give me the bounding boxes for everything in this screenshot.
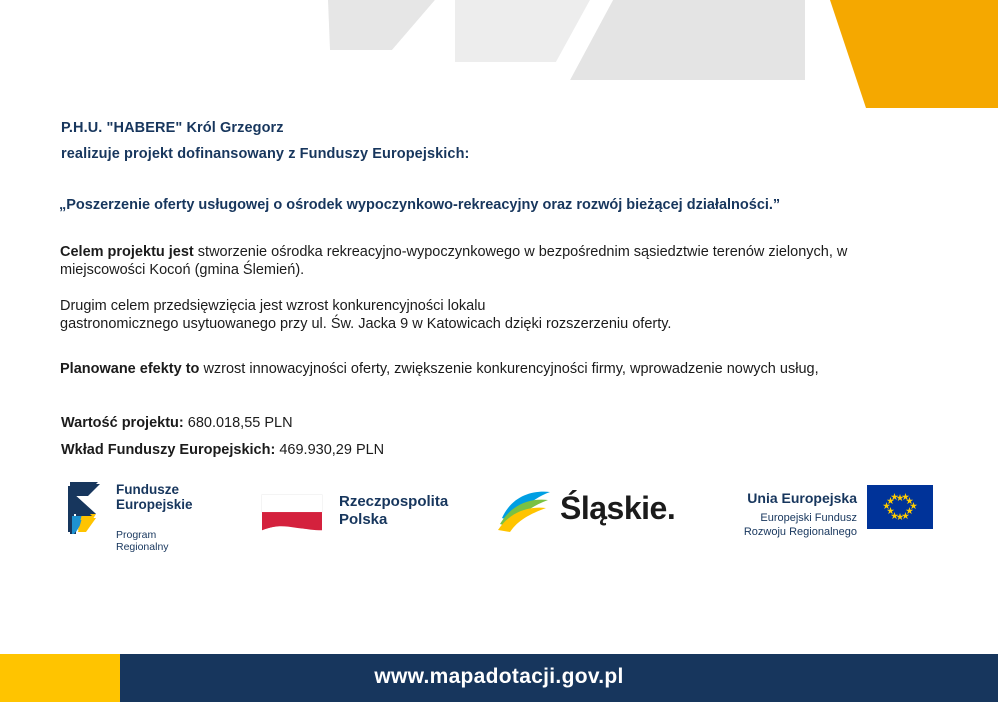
unia-sub-line1: Europejski Fundusz xyxy=(760,512,857,524)
project-second-goal-line1: Drugim celem przedsięwzięcia jest wzrost… xyxy=(60,298,486,314)
polish-flag-icon xyxy=(259,493,325,533)
slaskie-wordmark: Śląskie. xyxy=(560,490,675,527)
decorative-header-banner xyxy=(0,0,998,108)
project-value-line: Wartość projektu: 680.018,55 PLN xyxy=(61,415,293,431)
fundusze-europejskie-logo: Fundusze Europejskie Program Regionalny xyxy=(66,480,108,543)
project-second-goal-block: Drugim celem przedsięwzięcia jest wzrost… xyxy=(60,297,940,333)
project-value-amount: 680.018,55 PLN xyxy=(188,415,293,431)
eu-contribution-label: Wkład Funduszy Europejskich: xyxy=(61,442,275,458)
eu-contribution-line: Wkład Funduszy Europejskich: 469.930,29 … xyxy=(61,442,384,458)
project-goal-block: Celem projektu jest stworzenie ośrodka r… xyxy=(60,243,910,279)
footer-url[interactable]: www.mapadotacji.gov.pl xyxy=(0,665,998,689)
unia-europejska-wordmark: Unia Europejska xyxy=(729,490,857,506)
fundusze-subtitle: Program Regionalny xyxy=(116,529,169,553)
planned-effects-label: Planowane efekty to xyxy=(60,361,199,377)
fundusze-line1: Fundusze xyxy=(116,482,179,497)
rzeczpospolita-line1: Rzeczpospolita xyxy=(339,493,448,510)
unia-europejska-subtitle: Europejski Fundusz Rozwoju Regionalnego xyxy=(729,512,857,539)
slaskie-mark-icon xyxy=(498,488,554,532)
fundusze-europejskie-wordmark: Fundusze Europejskie xyxy=(116,483,193,512)
footer-bar: www.mapadotacji.gov.pl xyxy=(0,654,998,702)
eu-contribution-amount: 469.930,29 PLN xyxy=(279,442,384,458)
slaskie-logo: Śląskie. xyxy=(498,488,554,537)
eu-flag-icon xyxy=(867,485,933,529)
rzeczpospolita-line2: Polska xyxy=(339,511,387,528)
rzeczpospolita-wordmark: Rzeczpospolita Polska xyxy=(339,493,448,529)
planned-effects-text: wzrost innowacyjności oferty, zwiększeni… xyxy=(203,361,818,377)
fundusze-line2: Europejskie xyxy=(116,497,193,512)
header-shapes xyxy=(0,0,998,108)
unia-sub-line2: Rozwoju Regionalnego xyxy=(744,526,857,538)
project-value-label: Wartość projektu: xyxy=(61,415,184,431)
project-second-goal-line2: gastronomicznego usytuowanego przy ul. Ś… xyxy=(60,316,671,332)
logo-strip: Fundusze Europejskie Program Regionalny … xyxy=(0,108,998,228)
fundusze-europejskie-mark-icon xyxy=(66,480,108,538)
planned-effects-block: Planowane efekty to wzrost innowacyjnośc… xyxy=(60,360,960,378)
project-goal-label: Celem projektu jest xyxy=(60,244,194,260)
